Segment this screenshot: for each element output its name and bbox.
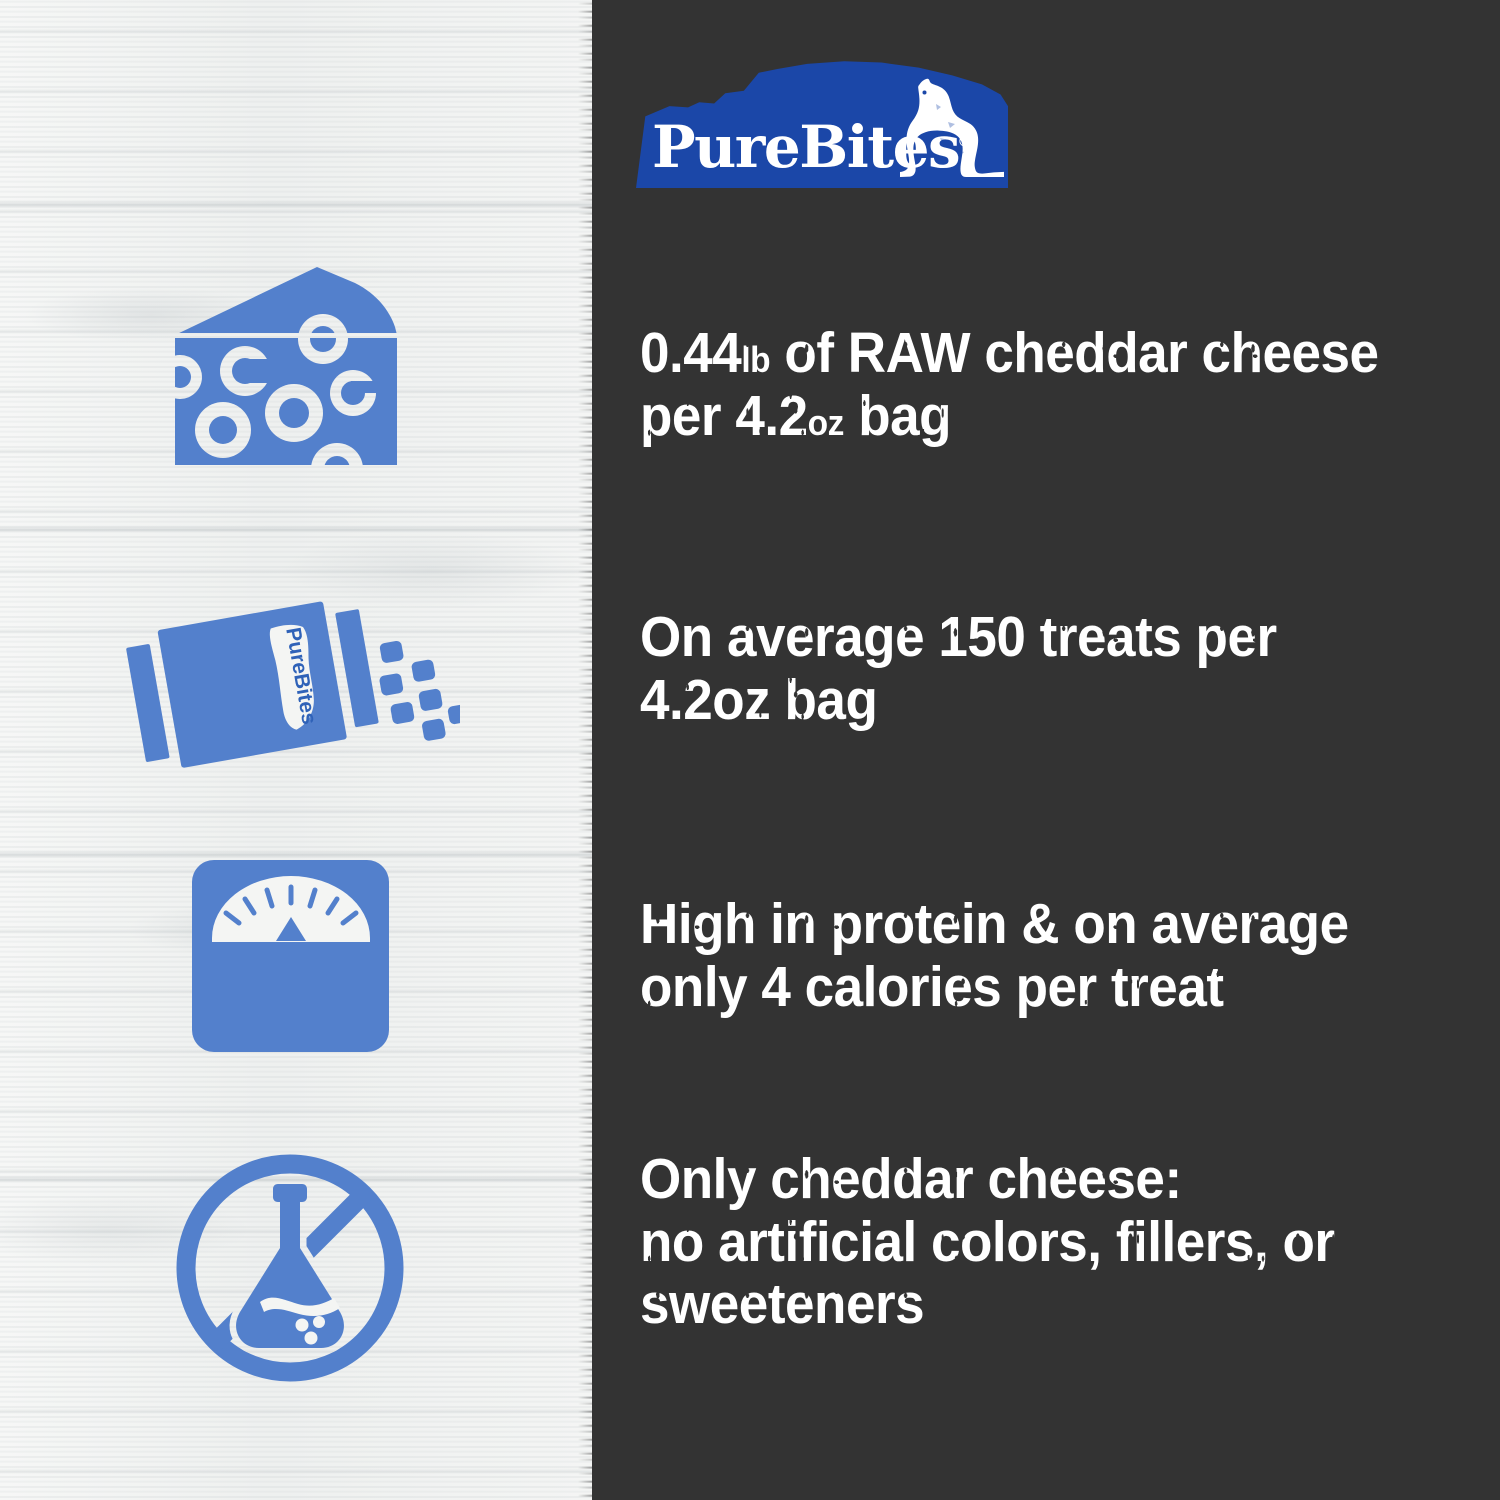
feature-icon-bag: PureBites	[0, 570, 580, 790]
product-infographic: PureBites®	[0, 0, 1500, 1500]
cheese-line2-rest: bag	[844, 384, 951, 448]
feature-text-cheese: 0.44lb of RAW cheddar cheese per 4.2oz b…	[640, 322, 1431, 447]
feature-icon-no-chemicals	[0, 1145, 580, 1390]
cheese-weight-value: 0.44	[640, 321, 741, 385]
feature-text-cheese-line2: per 4.2oz bag	[640, 385, 1431, 448]
cheese-wedge-icon	[175, 267, 405, 479]
feature-text-treats-line1: On average 150 treats per	[640, 606, 1431, 669]
feature-icon-scale	[0, 848, 580, 1063]
feature-text-calories-line1: High in protein & on average	[640, 893, 1431, 956]
feature-icon-cheese	[0, 258, 580, 488]
feature-text-only-line3: sweeteners	[640, 1273, 1431, 1336]
feature-text-treats-line2: 4.2oz bag	[640, 669, 1431, 732]
no-chemicals-icon	[174, 1152, 406, 1384]
treat-bag-icon: PureBites	[120, 580, 460, 780]
feature-text-only-line2: no artificial colors, fillers, or	[640, 1211, 1431, 1274]
cheese-weight-unit: lb	[741, 339, 770, 380]
feature-text-treats: On average 150 treats per 4.2oz bag	[640, 606, 1431, 731]
cheese-bagsize-value: per 4.2	[640, 384, 808, 448]
cheese-bagsize-unit: oz	[808, 402, 844, 443]
feature-text-calories-line2: only 4 calories per treat	[640, 956, 1431, 1019]
feature-text-calories: High in protein & on average only 4 calo…	[640, 893, 1431, 1018]
feature-text-only-line1: Only cheddar cheese:	[640, 1148, 1431, 1211]
cheese-line1-rest: of RAW cheddar cheese	[770, 321, 1378, 385]
weight-scale-icon	[188, 856, 393, 1056]
feature-text-cheese-line1: 0.44lb of RAW cheddar cheese	[640, 322, 1431, 385]
feature-text-only-cheese: Only cheddar cheese: no artificial color…	[640, 1148, 1431, 1336]
dog-silhouette-icon	[888, 78, 1006, 180]
purebites-logo: PureBites®	[636, 60, 1008, 188]
